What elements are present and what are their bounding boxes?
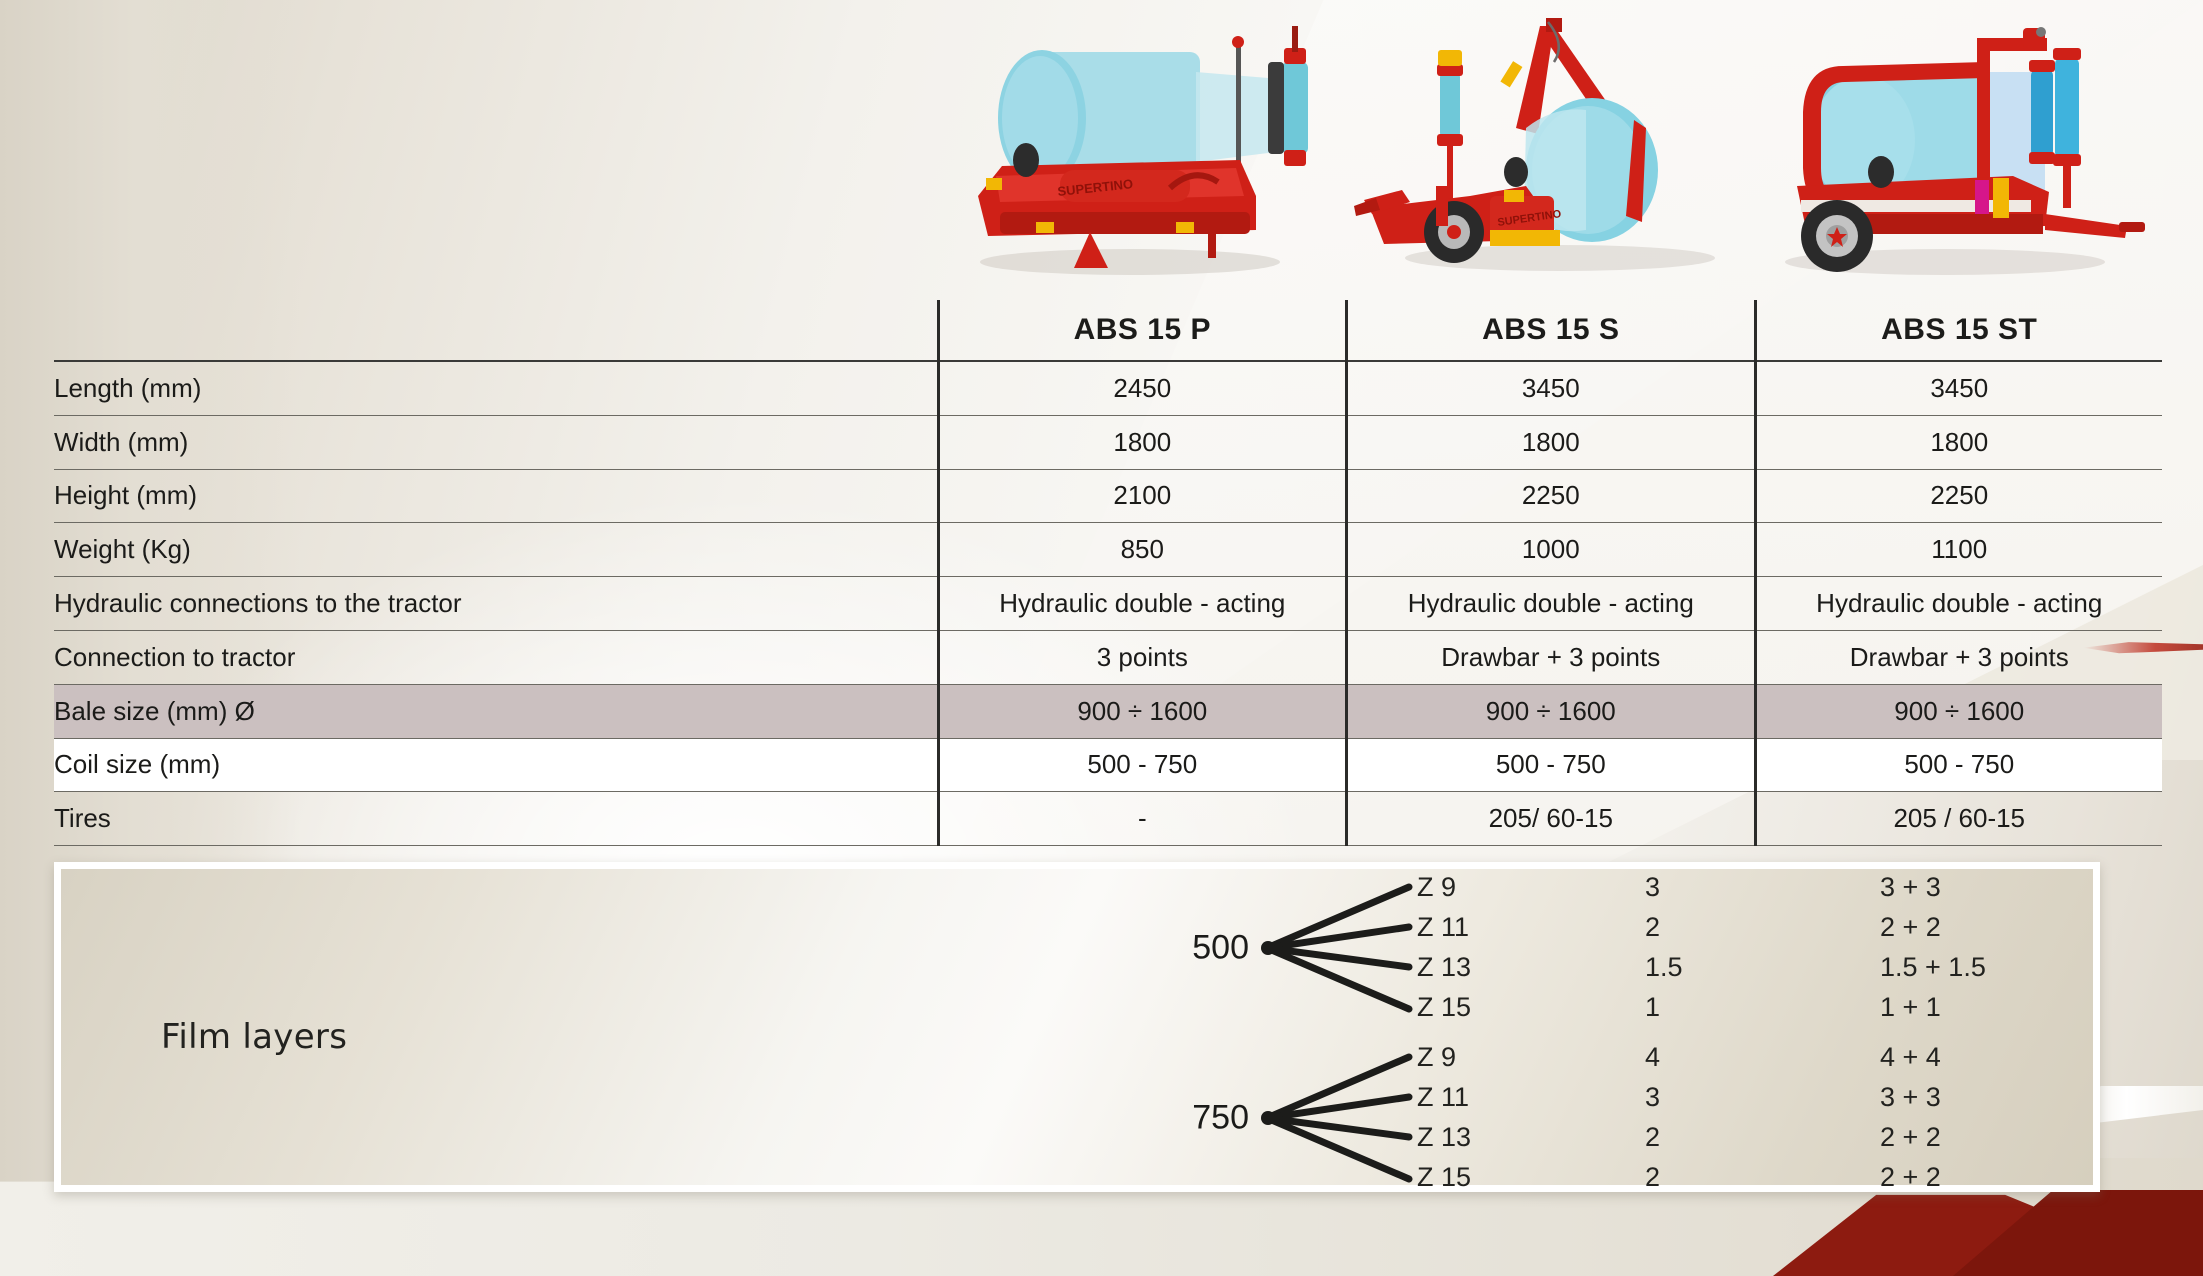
row-value: 1000 [1347, 523, 1755, 577]
film-value-double: 2 + 2 [1880, 1122, 1941, 1153]
row-label: Bale size (mm) Ø [54, 684, 938, 738]
film-value-double: 3 + 3 [1880, 872, 1941, 903]
film-value-double: 1 + 1 [1880, 992, 1941, 1023]
film-value-single: 1.5 [1645, 952, 1880, 983]
specifications-table: ABS 15 P ABS 15 S ABS 15 ST Length (mm) … [54, 300, 2162, 846]
column-header-abs-15-s: ABS 15 S [1347, 300, 1755, 361]
row-value: 1800 [938, 415, 1346, 469]
row-label: Width (mm) [54, 415, 938, 469]
film-value-single: 1 [1645, 992, 1880, 1023]
film-layer-row: Z 9 4 4 + 4 [1417, 1037, 1941, 1077]
film-layers-panel: Film layers 500 Z 9 3 3 + 3 Z 11 2 2 + 2 [54, 862, 2100, 1192]
film-value-single: 2 [1645, 1162, 1880, 1193]
table-row-highlighted: Bale size (mm) Ø 900 ÷ 1600 900 ÷ 1600 9… [54, 684, 2162, 738]
table-row: Height (mm) 2100 2250 2250 [54, 469, 2162, 523]
film-value-double: 3 + 3 [1880, 1082, 1941, 1113]
row-label: Height (mm) [54, 469, 938, 523]
row-value: Hydraulic double - acting [938, 577, 1346, 631]
film-code: Z 15 [1417, 1162, 1645, 1193]
row-value: Drawbar + 3 points [1347, 630, 1755, 684]
film-layer-row: Z 9 3 3 + 3 [1417, 867, 1986, 907]
row-value: 2250 [1347, 469, 1755, 523]
row-label: Coil size (mm) [54, 738, 938, 792]
row-value: 900 ÷ 1600 [938, 684, 1346, 738]
row-label: Weight (Kg) [54, 523, 938, 577]
row-value: 2100 [938, 469, 1346, 523]
film-group-root-label: 750 [1192, 1099, 1259, 1138]
film-layer-row: Z 15 1 1 + 1 [1417, 987, 1986, 1027]
product-image-abs-15-st [1745, 0, 2155, 290]
film-group-rows: Z 9 3 3 + 3 Z 11 2 2 + 2 Z 13 1.5 1.5 + … [1417, 867, 1986, 1027]
film-layer-row: Z 11 2 2 + 2 [1417, 907, 1986, 947]
row-value: 205/ 60-15 [1347, 792, 1755, 846]
film-value-double: 4 + 4 [1880, 1042, 1941, 1073]
film-code: Z 11 [1417, 1082, 1645, 1113]
column-header-abs-15-p: ABS 15 P [938, 300, 1346, 361]
table-row: Tires - 205/ 60-15 205 / 60-15 [54, 792, 2162, 846]
fan-connector-icon [1259, 1047, 1419, 1189]
row-value: Hydraulic double - acting [1755, 577, 2162, 631]
row-label: Hydraulic connections to the tractor [54, 577, 938, 631]
row-value: 500 - 750 [1347, 738, 1755, 792]
column-header-abs-15-st: ABS 15 ST [1755, 300, 2162, 361]
film-value-single: 4 [1645, 1042, 1880, 1073]
product-image-abs-15-s: SUPERTINO [1340, 0, 1750, 290]
row-label: Tires [54, 792, 938, 846]
row-value: 1100 [1755, 523, 2162, 577]
row-value: 500 - 750 [938, 738, 1346, 792]
row-value: 900 ÷ 1600 [1347, 684, 1755, 738]
row-value: 850 [938, 523, 1346, 577]
product-image-abs-15-p: SUPERTINO [940, 0, 1350, 290]
film-value-single: 3 [1645, 872, 1880, 903]
table-row: Weight (Kg) 850 1000 1100 [54, 523, 2162, 577]
table-row: Width (mm) 1800 1800 1800 [54, 415, 2162, 469]
row-value: 3450 [1347, 361, 1755, 415]
table-header-spacer [54, 300, 938, 361]
film-code: Z 13 [1417, 1122, 1645, 1153]
film-layer-row: Z 15 2 2 + 2 [1417, 1157, 1941, 1197]
row-value: 3 points [938, 630, 1346, 684]
fan-connector-icon [1259, 877, 1419, 1019]
row-value: 1800 [1755, 415, 2162, 469]
row-value: 500 - 750 [1755, 738, 2162, 792]
table-row: Connection to tractor 3 points Drawbar +… [54, 630, 2162, 684]
table-row: Hydraulic connections to the tractor Hyd… [54, 577, 2162, 631]
film-group-rows: Z 9 4 4 + 4 Z 11 3 3 + 3 Z 13 2 2 + 2 Z … [1417, 1037, 1941, 1197]
film-layer-row: Z 11 3 3 + 3 [1417, 1077, 1941, 1117]
row-value: Hydraulic double - acting [1347, 577, 1755, 631]
film-value-single: 2 [1645, 1122, 1880, 1153]
film-layer-row: Z 13 2 2 + 2 [1417, 1117, 1941, 1157]
film-code: Z 9 [1417, 1042, 1645, 1073]
row-value: 205 / 60-15 [1755, 792, 2162, 846]
row-label: Length (mm) [54, 361, 938, 415]
film-layers-group-750: 750 Z 9 4 4 + 4 Z 11 3 3 + 3 Z 13 [1259, 1047, 2019, 1189]
film-value-double: 2 + 2 [1880, 912, 1941, 943]
film-layer-row: Z 13 1.5 1.5 + 1.5 [1417, 947, 1986, 987]
row-value: 1800 [1347, 415, 1755, 469]
film-value-single: 3 [1645, 1082, 1880, 1113]
row-value: 2450 [938, 361, 1346, 415]
table-row-white: Coil size (mm) 500 - 750 500 - 750 500 -… [54, 738, 2162, 792]
row-value: - [938, 792, 1346, 846]
film-code: Z 15 [1417, 992, 1645, 1023]
table-header-row: ABS 15 P ABS 15 S ABS 15 ST [54, 300, 2162, 361]
product-image-row: SUPERTINO [940, 0, 2203, 300]
row-label: Connection to tractor [54, 630, 938, 684]
film-group-root-label: 500 [1192, 929, 1259, 968]
row-value: 3450 [1755, 361, 2162, 415]
row-value: 900 ÷ 1600 [1755, 684, 2162, 738]
film-value-double: 1.5 + 1.5 [1880, 952, 1986, 983]
table-row: Length (mm) 2450 3450 3450 [54, 361, 2162, 415]
film-code: Z 11 [1417, 912, 1645, 943]
film-value-single: 2 [1645, 912, 1880, 943]
film-value-double: 2 + 2 [1880, 1162, 1941, 1193]
film-layers-title: Film layers [161, 1017, 347, 1057]
film-code: Z 9 [1417, 872, 1645, 903]
row-value: Drawbar + 3 points [1755, 630, 2162, 684]
film-code: Z 13 [1417, 952, 1645, 983]
film-layers-group-500: 500 Z 9 3 3 + 3 Z 11 2 2 + 2 Z 13 [1259, 877, 2019, 1019]
row-value: 2250 [1755, 469, 2162, 523]
